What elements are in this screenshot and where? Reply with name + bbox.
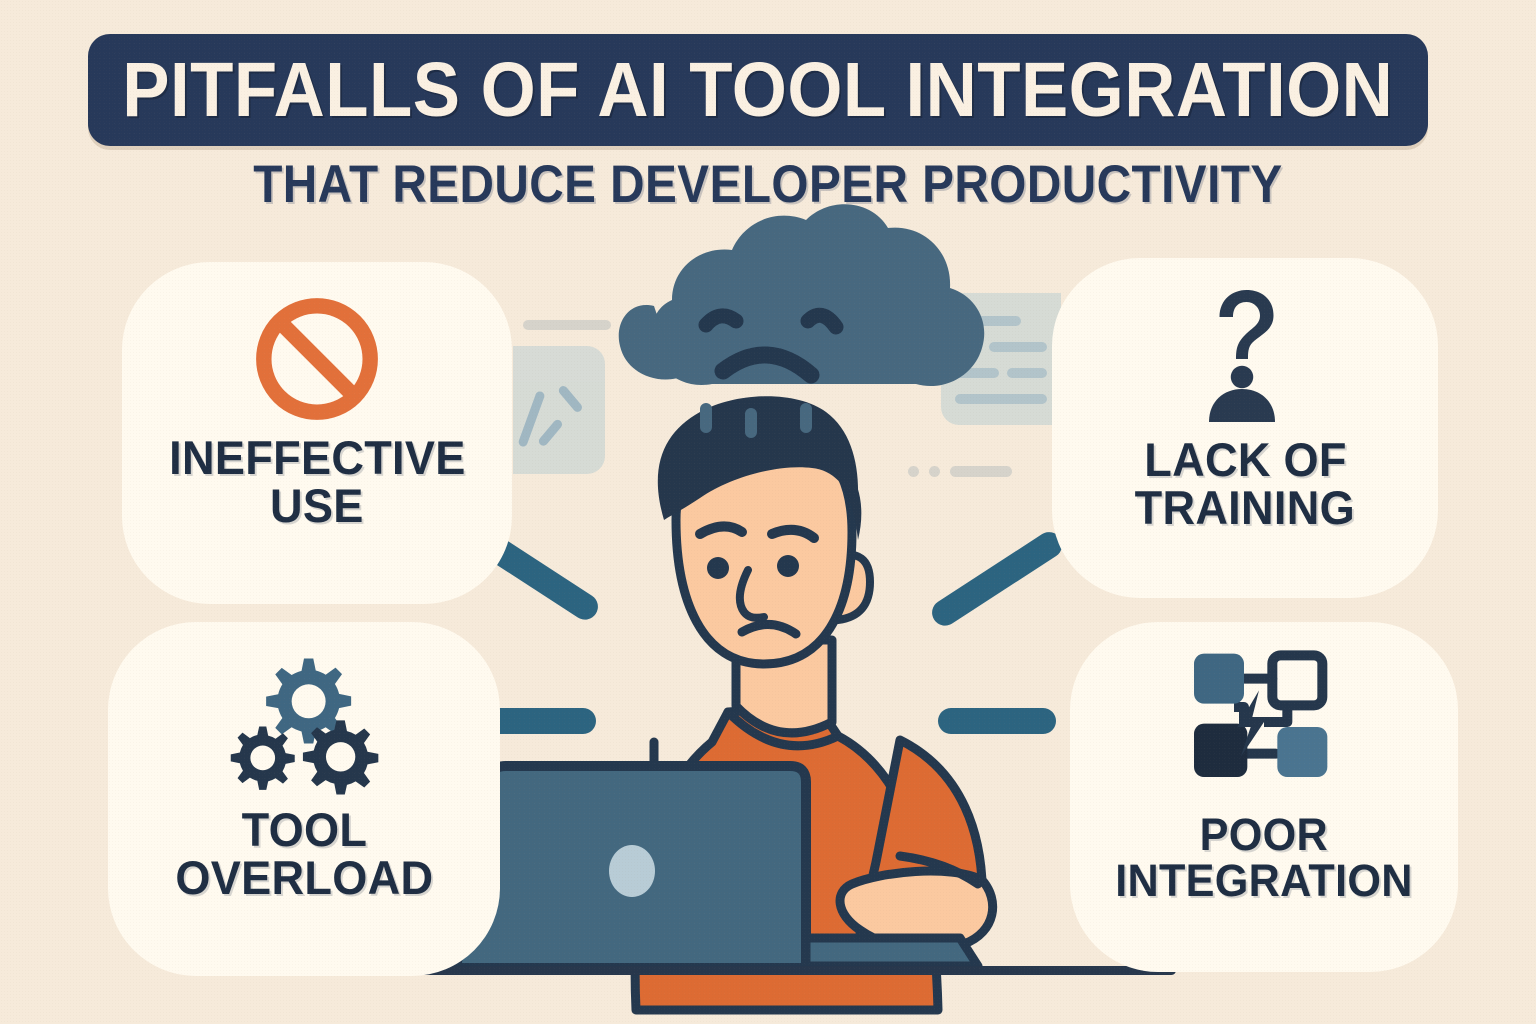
prohibition-icon (247, 289, 387, 429)
card-label-line1: POOR (1200, 812, 1328, 858)
card-label-tool-overload: TOOL OVERLOAD (108, 806, 500, 902)
infographic-poster: PITFALLS OF AI TOOL INTEGRATION THAT RED… (0, 0, 1536, 1024)
card-ineffective-use[interactable]: INEFFECTIVE USE (122, 262, 512, 604)
network-nodes-lightning-icon (1180, 647, 1348, 807)
card-label-lack-of-training: LACK OF TRAINING (1052, 436, 1438, 532)
gears-icon (219, 649, 389, 804)
person-question-icon (1170, 281, 1320, 431)
prohibition-icon-wrap (122, 284, 512, 434)
card-lack-of-training[interactable]: LACK OF TRAINING (1052, 258, 1438, 598)
card-label-ineffective-use: INEFFECTIVE USE (122, 434, 512, 530)
card-label-line2: USE (270, 482, 364, 530)
card-label-line1: INEFFECTIVE (169, 434, 465, 482)
card-tool-overload[interactable]: TOOL OVERLOAD (108, 622, 500, 976)
card-label-line1: TOOL (241, 806, 367, 854)
card-label-line2: OVERLOAD (175, 854, 433, 902)
card-poor-integration[interactable]: POOR INTEGRATION (1070, 622, 1458, 972)
card-label-line1: LACK OF (1144, 436, 1347, 484)
card-label-line2: TRAINING (1135, 484, 1355, 532)
card-label-poor-integration: POOR INTEGRATION (1070, 812, 1458, 904)
network-nodes-lightning-icon-wrap (1070, 642, 1458, 812)
desk-line (322, 966, 1176, 975)
gears-icon-wrap (108, 646, 500, 806)
card-label-line2: INTEGRATION (1115, 858, 1413, 904)
person-question-icon-wrap (1052, 276, 1438, 436)
